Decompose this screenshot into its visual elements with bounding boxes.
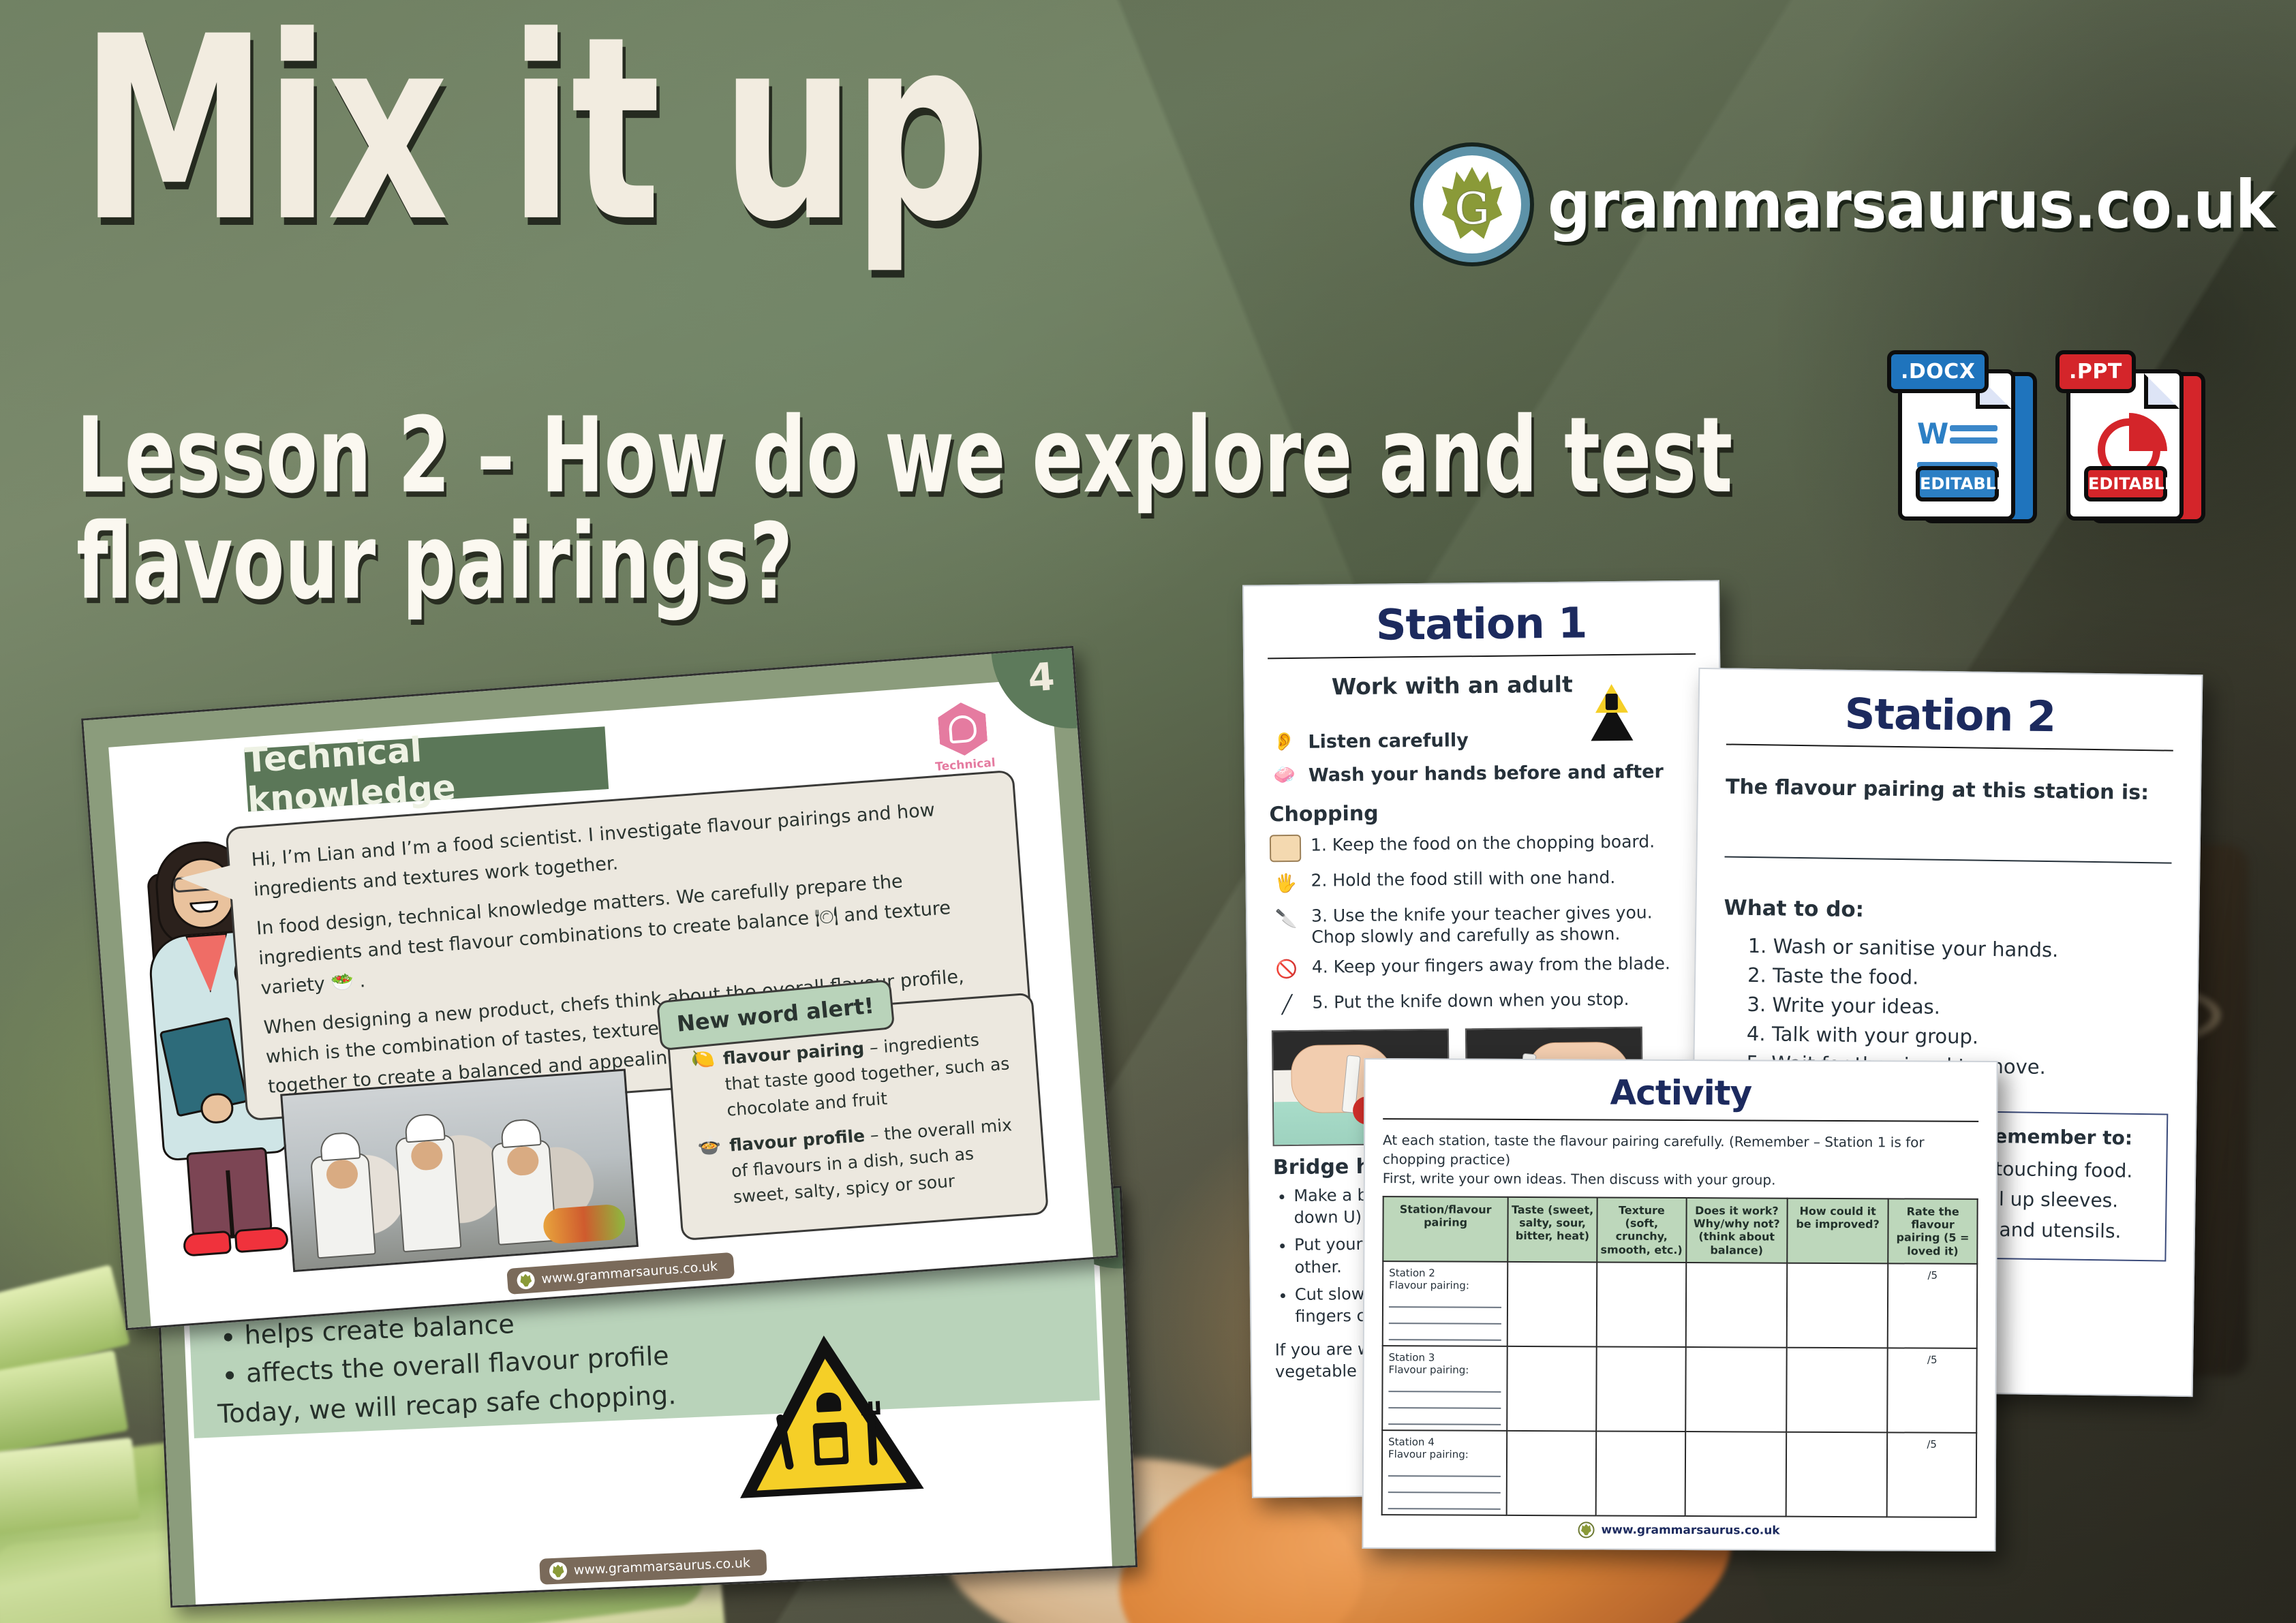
kitchen-hazard-warning-icon [732,1331,924,1504]
station-2-title: Station 2 [1726,687,2174,743]
table-row: Station 4 Flavour pairing: /5 [1382,1430,1977,1517]
activity-title: Activity [1383,1072,1978,1114]
rating-cell[interactable]: /5 [1887,1348,1976,1433]
list-item: 🖐 2. Hold the food still with one hand. [1270,866,1698,898]
station-cell[interactable]: Station 4 Flavour pairing: [1382,1430,1507,1515]
station-cell[interactable]: Station 3 Flavour pairing: [1382,1346,1507,1431]
works-cell[interactable] [1685,1347,1787,1432]
word-w-icon: W [1917,420,1948,448]
list-item: ╱ 5. Put the knife down when you stop. [1271,987,1699,1019]
docx-editable-label: EDITABLE [1916,466,1999,501]
knife-down-icon: ╱ [1271,991,1302,1019]
column-header: How could it be improved? [1787,1199,1888,1263]
texture-cell[interactable] [1596,1431,1685,1516]
glossary-entry: 🍲 flavour profile – the overall mix of f… [697,1111,1027,1213]
rating-cell[interactable]: /5 [1887,1432,1976,1517]
step-text: 4. Keep your fingers away from the blade… [1312,953,1670,978]
no-hand-icon: 🚫 [1271,956,1302,983]
activity-document[interactable]: Activity At each station, taste the flav… [1362,1058,1997,1551]
improve-cell[interactable] [1786,1347,1888,1432]
step-text: 5. Put the knife down when you stop. [1312,988,1629,1013]
activity-table: Station/flavour pairing Taste (sweet, sa… [1381,1196,1978,1518]
page-title: Mix it up [80,14,985,247]
column-header: Texture (soft, crunchy, smooth, etc.) [1597,1197,1686,1262]
works-cell[interactable] [1685,1263,1787,1348]
column-header: Taste (sweet, salty, sour, bitter, heat) [1507,1197,1597,1262]
head-gear-icon [937,701,989,758]
slide-footer-url: www.grammarsaurus.co.uk [574,1556,751,1578]
glossary-definition: – the overall mix of flavours in a dish,… [731,1115,1013,1207]
taste-cell[interactable] [1507,1431,1596,1516]
activity-footer-url: www.grammarsaurus.co.uk [1601,1523,1779,1537]
grammarsaurus-dino-icon [549,1562,568,1580]
activity-instructions: At each station, taste the flavour pairi… [1383,1130,1978,1190]
texture-cell[interactable] [1597,1262,1686,1347]
chopping-board-icon [1270,835,1301,862]
page-fold-icon [2144,373,2179,409]
table-row: Station 3 Flavour pairing: /5 [1382,1346,1977,1433]
step-text: 2. Hold the food still with one hand. [1311,867,1615,891]
slide-number-badge: 4 [992,648,1077,734]
ppt-editable-label: EDITABLE [2084,466,2167,501]
activity-footer: www.grammarsaurus.co.uk [1381,1521,1977,1540]
lime-icon: 🍋 [690,1047,720,1126]
rule-row: 🧼 Wash your hands before and after [1269,758,1697,790]
ppt-badge[interactable]: EDITABLE .PPT [2066,354,2206,525]
taste-cell[interactable] [1507,1346,1596,1432]
kitchen-hazard-warning-icon [1590,677,1633,716]
file-format-badges: W EDITABLE .DOCX EDITABLE .PPT [1898,354,2206,525]
taste-cell[interactable] [1507,1262,1597,1347]
table-row: Station 2 Flavour pairing: /5 [1383,1261,1978,1348]
column-header: Does it work? Why/why not? (think about … [1686,1198,1788,1263]
texture-cell[interactable] [1596,1346,1685,1432]
slide-card-4[interactable]: 4 Technical knowledge Technical knowledg… [81,646,1118,1331]
word-lines-icon [1950,425,1997,450]
glossary-definition: – ingredients that taste good together, … [724,1030,1011,1119]
list-item: 1. Keep the food on the chopping board. [1270,831,1698,863]
slide-footer: www.grammarsaurus.co.uk [539,1549,767,1585]
chopping-heading: Chopping [1269,799,1697,827]
grammarsaurus-dino-icon [517,1271,536,1290]
improve-cell[interactable] [1786,1432,1888,1517]
rule-text: Wash your hands before and after [1308,761,1664,786]
column-header: Station/flavour pairing [1383,1196,1508,1262]
grammarsaurus-dino-icon: G [1414,146,1530,262]
wash-hands-icon: 🧼 [1269,762,1300,789]
list-item: 🔪 3. Use the knife your teacher gives yo… [1270,901,1699,948]
ppt-tag-label: .PPT [2055,350,2136,393]
docx-tag-label: .DOCX [1887,350,1989,393]
improve-cell[interactable] [1787,1263,1888,1348]
step-text: 3. Use the knife your teacher gives you.… [1311,901,1699,948]
logo-letter: G [1454,187,1489,231]
column-header: Rate the flavour pairing (5 = loved it) [1888,1199,1977,1263]
ear-icon: 👂 [1268,728,1300,756]
slide4-title: Technical knowledge [244,726,609,811]
works-cell[interactable] [1685,1432,1786,1517]
list-item: 🚫 4. Keep your fingers away from the bla… [1271,952,1699,984]
flavour-pairing-input[interactable] [1725,799,2173,863]
brand-logo[interactable]: G grammarsaurus.co.uk [1414,146,2274,262]
docx-badge[interactable]: W EDITABLE .DOCX [1898,354,2038,525]
what-to-do-heading: What to do: [1724,895,2171,926]
glossary-term: flavour pairing [722,1038,865,1068]
step-text: 1. Keep the food on the chopping board. [1311,831,1655,856]
bowl-icon: 🍲 [697,1134,726,1213]
station-cell[interactable]: Station 2 Flavour pairing: [1383,1261,1508,1346]
knife-cut-icon: 🔪 [1270,906,1302,933]
grammarsaurus-dino-icon [1578,1521,1594,1538]
hand-icon: 🖐 [1270,870,1301,897]
brand-url: grammarsaurus.co.uk [1548,166,2274,243]
station-1-title: Station 1 [1267,597,1696,651]
rule-text: Listen carefully [1308,730,1469,752]
rating-cell[interactable]: /5 [1888,1263,1977,1348]
table-header-row: Station/flavour pairing Taste (sweet, sa… [1383,1196,1977,1264]
chefs-kitchen-photo [280,1069,639,1273]
glossary-term: flavour profile [729,1126,866,1156]
station-1-subtitle: Work with an adult [1268,670,1696,720]
slide-footer-url: www.grammarsaurus.co.uk [541,1258,718,1286]
new-word-alert-box: New word alert! 🍋 flavour pairing – ingr… [666,992,1049,1241]
